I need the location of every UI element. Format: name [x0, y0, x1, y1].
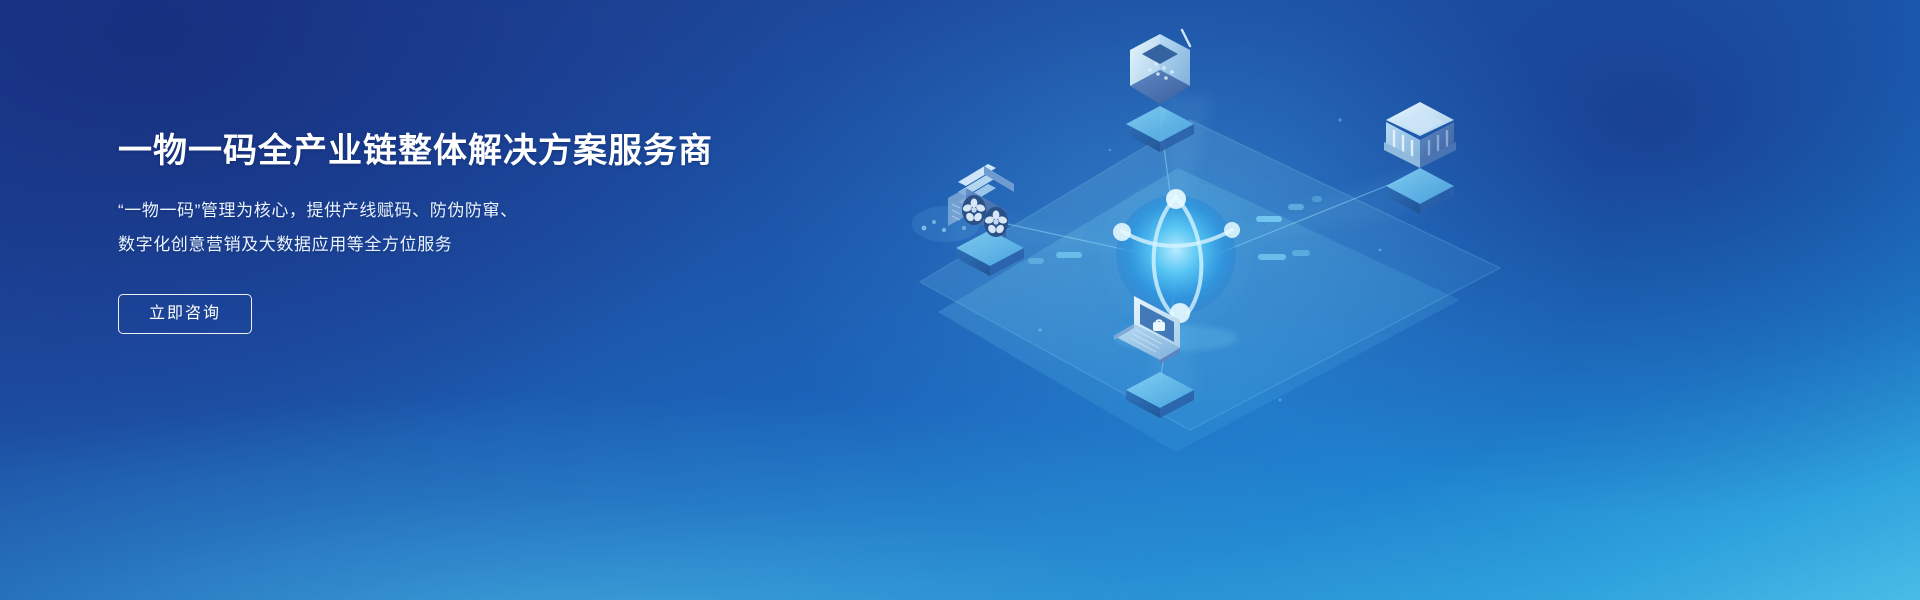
- cta-wrapper: 立即咨询: [118, 294, 798, 334]
- hero-copy: 一物一码全产业链整体解决方案服务商 “一物一码”管理为核心，提供产线赋码、防伪防…: [118, 128, 798, 334]
- consult-now-button[interactable]: 立即咨询: [118, 294, 252, 334]
- fan-icon-1: [962, 195, 986, 225]
- subtitle-line-1: “一物一码”管理为核心，提供产线赋码、防伪防窜、: [118, 194, 798, 228]
- card-payment-terminal-icon: [1130, 30, 1190, 104]
- bank-building-icon: [1384, 102, 1456, 168]
- node-pos-terminal: [1126, 30, 1194, 152]
- hero-banner: 一物一码全产业链整体解决方案服务商 “一物一码”管理为核心，提供产线赋码、防伪防…: [0, 0, 1920, 600]
- page-title: 一物一码全产业链整体解决方案服务商: [118, 128, 798, 174]
- subtitle-line-2: 数字化创意营销及大数据应用等全方位服务: [118, 228, 798, 262]
- hero-illustration: [860, 0, 1560, 600]
- fan-icon-2: [984, 207, 1008, 237]
- node-bank-building: [1384, 102, 1456, 214]
